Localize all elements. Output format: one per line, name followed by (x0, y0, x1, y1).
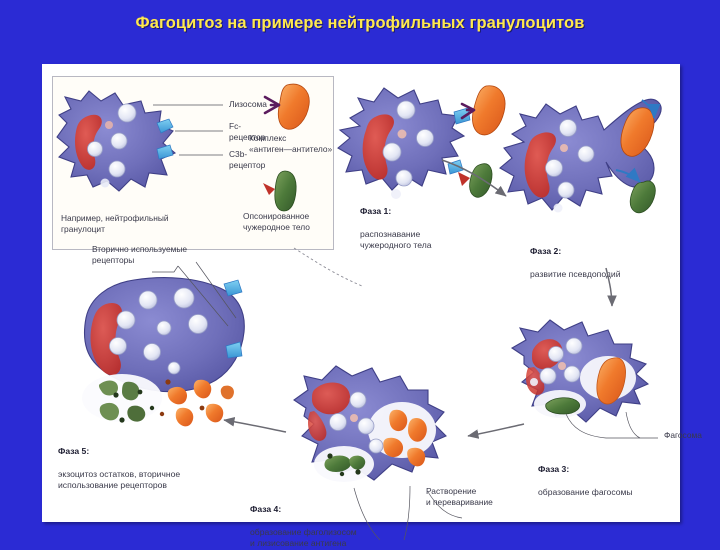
arrow-phase3-to-phase4 (462, 420, 532, 446)
phase-2-number: Фаза 2: (530, 246, 561, 256)
phase-4-figure (268, 360, 468, 500)
legend-inset-box: Лизосома Fc- рецептор C3b- рецептор Комп… (52, 76, 334, 250)
phase-3-text: образование фагосомы (538, 487, 633, 497)
label-phagosome: Фагосома (664, 430, 702, 441)
label-opsonized-body: Опсонированное чужеродное тело (243, 211, 310, 233)
legend-antigen-antibody-figure (249, 79, 319, 141)
phase-2-figure (494, 90, 679, 240)
content-panel: Лизосома Fc- рецептор C3b- рецептор Комп… (42, 64, 680, 522)
phase-1-number: Фаза 1: (360, 206, 391, 216)
phase-4-text: образование фаголизосом и лизисование ан… (250, 527, 357, 549)
phase-4-caption: Фаза 4: образование фаголизосом и лизисо… (250, 492, 357, 550)
phase-3-number: Фаза 3: (538, 464, 569, 474)
phase-5-text: экзоцитоз остатков, вторичное использова… (58, 469, 180, 491)
phase-3-caption: Фаза 3: образование фагосомы (538, 452, 633, 498)
phase-5-caption: Фаза 5: экзоцитоз остатков, вторичное ис… (58, 434, 180, 492)
phase-1-text: распознавание чужеродного тела (360, 229, 432, 251)
phase-5-number: Фаза 5: (58, 446, 89, 456)
page-title: Фагоцитоз на примере нейтрофильных грану… (0, 14, 720, 33)
legend-opsonized-body-figure (259, 165, 309, 217)
phase-5-receptor-leader-lines (150, 256, 260, 336)
label-neutrophil-granulocyte: Например, нейтрофильный гранулоцит (61, 213, 169, 235)
phase-1-caption: Фаза 1: распознавание чужеродного тела (360, 194, 432, 252)
label-dissolution-digestion: Растворение и переваривание (426, 486, 493, 508)
label-antigen-antibody-complex: Комплекс «антиген—антитело» (249, 133, 332, 155)
label-reused-receptors: Вторично используемые рецепторы (92, 244, 187, 266)
slide-root: Фагоцитоз на примере нейтрофильных грану… (0, 0, 720, 540)
phase-4-number: Фаза 4: (250, 504, 281, 514)
phagosome-leader-lines (562, 408, 682, 448)
